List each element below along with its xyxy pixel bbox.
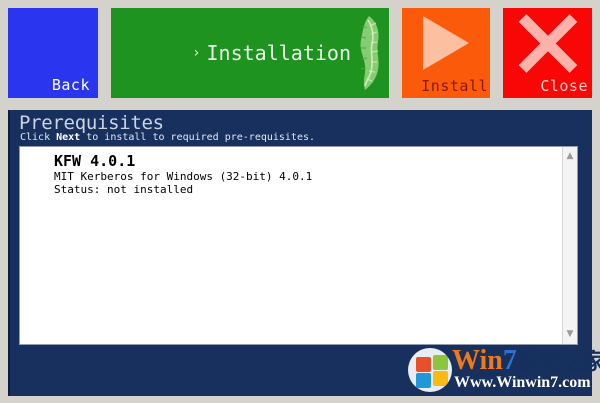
chevron-down-icon[interactable]: ▼ — [563, 327, 577, 342]
toolbar: Back ›Installation Install Close — [0, 0, 600, 100]
close-button-label: Close — [540, 78, 588, 95]
list-item[interactable]: KFW 4.0.1 MIT Kerberos for Windows (32-b… — [54, 153, 557, 196]
page-title: Prerequisites — [19, 112, 164, 134]
back-button[interactable]: Back — [8, 8, 98, 98]
list-scrollbar[interactable]: ▲ ▼ — [562, 147, 577, 344]
subtitle-text-before: Click — [20, 132, 56, 143]
watermark-brand-win: Win — [452, 345, 503, 376]
watermark-brand-seven: 7 — [503, 345, 517, 376]
prerequisites-list-content: KFW 4.0.1 MIT Kerberos for Windows (32-b… — [54, 153, 557, 196]
page-subtitle: Click Next to install to required pre-re… — [20, 132, 315, 143]
install-button-label: Install — [421, 78, 488, 95]
watermark-url: Www.Winwin7.com — [454, 374, 591, 392]
installation-banner: ›Installation — [111, 8, 389, 98]
x-close-icon — [518, 14, 578, 72]
subtitle-next-emphasis: Next — [56, 132, 80, 143]
prerequisite-status: Status: not installed — [54, 183, 557, 196]
prerequisite-title: KFW 4.0.1 — [54, 153, 557, 170]
leaf-decoration-icon — [353, 16, 383, 90]
chevron-up-icon[interactable]: ▲ — [563, 149, 577, 164]
installation-banner-label: Installation — [207, 41, 352, 65]
close-button[interactable]: Close — [503, 8, 592, 98]
prerequisites-list-box[interactable]: KFW 4.0.1 MIT Kerberos for Windows (32-b… — [19, 146, 578, 345]
watermark-brand-cn: 系统之家 — [517, 350, 600, 375]
subtitle-text-after: to install to required pre-requisites. — [80, 132, 315, 143]
install-button[interactable]: Install — [402, 8, 490, 98]
watermark: Win7系统之家 Www.Winwin7.com — [408, 346, 596, 394]
back-button-label: Back — [52, 77, 90, 94]
windows-logo-icon — [408, 348, 452, 392]
installation-banner-text: ›Installation — [192, 41, 351, 65]
prerequisite-description: MIT Kerberos for Windows (32-bit) 4.0.1 — [54, 170, 557, 183]
chevron-right-icon: › — [192, 45, 200, 61]
play-triangle-icon — [423, 16, 469, 70]
